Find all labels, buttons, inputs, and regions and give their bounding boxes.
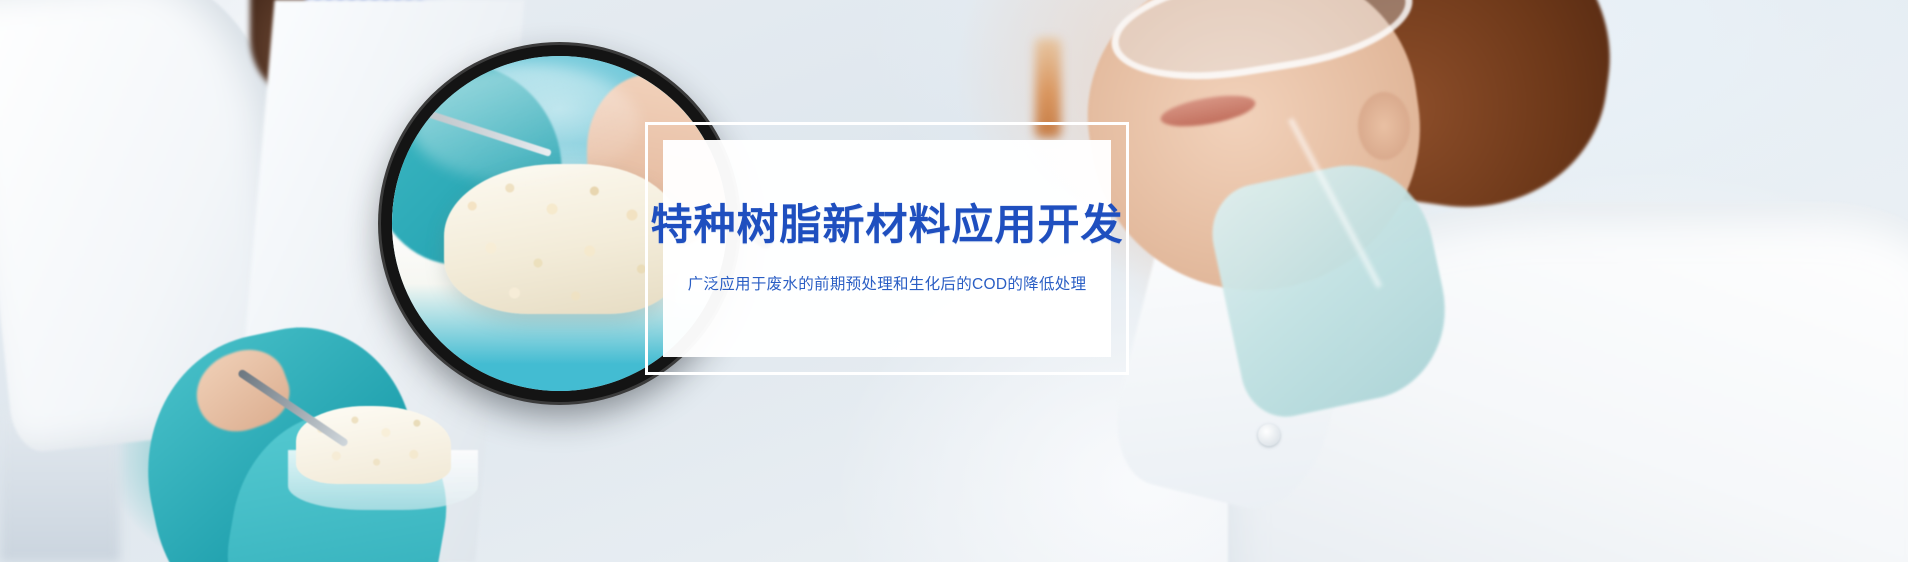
banner-subline: 广泛应用于废水的前期预处理和生化后的COD的降低处理 xyxy=(688,275,1087,295)
hero-banner: 特种树脂新材料应用开发 广泛应用于废水的前期预处理和生化后的COD的降低处理 xyxy=(0,0,1908,562)
female-scientist-ear xyxy=(1358,92,1410,160)
resin-beads-sample xyxy=(296,406,451,484)
magnified-resin-sample xyxy=(444,164,679,314)
text-panel: 特种树脂新材料应用开发 广泛应用于废水的前期预处理和生化后的COD的降低处理 xyxy=(663,140,1111,357)
lab-coat-button xyxy=(1258,424,1280,446)
banner-headline: 特种树脂新材料应用开发 xyxy=(651,202,1124,248)
